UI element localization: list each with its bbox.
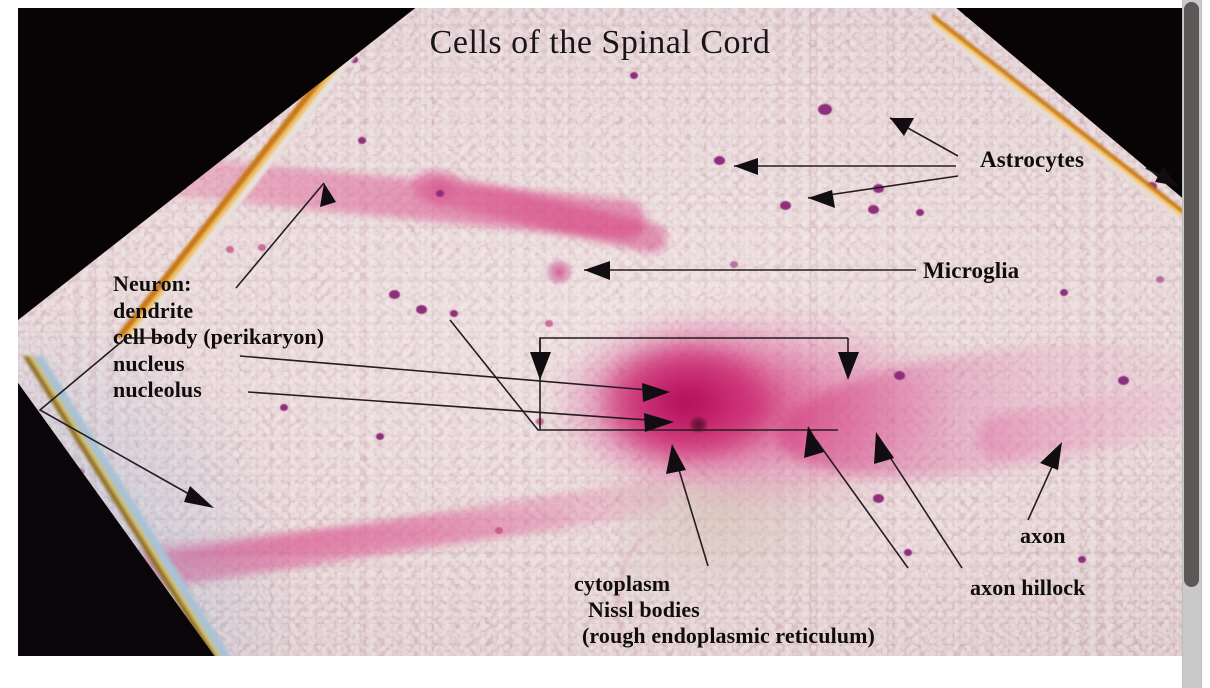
- astrocyte-nucleus: [873, 494, 884, 503]
- astrocyte-nucleus: [964, 10, 972, 17]
- astrocyte-nucleus: [630, 72, 638, 79]
- astrocyte-nucleus: [160, 638, 168, 645]
- micrograph-figure: Cells of the Spinal Cord Astrocytes Micr…: [18, 8, 1182, 656]
- astrocyte-nucleus: [226, 246, 234, 253]
- astrocyte-nucleus: [868, 205, 879, 214]
- astrocyte-nucleus: [1060, 289, 1068, 296]
- label-neuron-block: Neuron: dendrite cell body (perikaryon) …: [113, 271, 324, 404]
- astrocyte-nucleus: [436, 190, 444, 197]
- label-nissl-block: cytoplasm Nissl bodies (rough endoplasmi…: [574, 571, 875, 649]
- astrocyte-nucleus: [495, 527, 503, 534]
- astrocyte-nucleus: [780, 201, 791, 210]
- label-neuron-nucleus: nucleus: [113, 351, 324, 378]
- astrocyte-nucleus: [1118, 376, 1129, 385]
- label-nissl-bodies: Nissl bodies: [574, 597, 875, 623]
- label-neuron-dendrite: dendrite: [113, 298, 324, 325]
- astrocyte-nucleus: [389, 290, 400, 299]
- neuron-nucleolus: [690, 417, 707, 432]
- astrocyte-nucleus: [536, 418, 544, 425]
- astrocyte-nucleus: [376, 433, 384, 440]
- microglia-cell: [546, 260, 572, 284]
- astrocyte-nucleus: [904, 549, 912, 556]
- astrocyte-nucleus: [894, 371, 905, 380]
- astrocyte-nucleus: [1146, 182, 1157, 191]
- astrocyte-nucleus: [730, 261, 738, 268]
- astrocyte-nucleus: [1156, 276, 1164, 283]
- label-microglia: Microglia: [923, 258, 1019, 284]
- label-neuron-heading: Neuron:: [113, 271, 324, 298]
- astrocyte-nucleus: [545, 320, 553, 327]
- astrocyte-nucleus: [195, 79, 203, 86]
- astrocyte-nucleus: [258, 244, 266, 251]
- label-axon-hillock: axon hillock: [970, 575, 1086, 601]
- astrocyte-nucleus: [714, 156, 725, 165]
- astrocyte-nucleus: [358, 137, 366, 144]
- astrocyte-nucleus: [818, 104, 832, 115]
- vertical-scrollbar-thumb[interactable]: [1184, 2, 1199, 587]
- label-nissl-expansion: (rough endoplasmic reticulum): [574, 623, 875, 649]
- page-canvas: Cells of the Spinal Cord Astrocytes Micr…: [0, 0, 1210, 688]
- astrocyte-nucleus: [873, 184, 884, 193]
- label-axon: axon: [1020, 523, 1066, 549]
- label-neuron-nucleolus: nucleolus: [113, 377, 324, 404]
- astrocyte-nucleus: [1028, 13, 1036, 20]
- label-astrocytes: Astrocytes: [980, 147, 1084, 173]
- neuron-nucleus: [603, 338, 783, 468]
- dendrite-branch-point: [418, 168, 462, 208]
- astrocyte-nucleus: [416, 305, 427, 314]
- figure-title: Cells of the Spinal Cord: [18, 24, 1182, 62]
- astrocyte-nucleus: [280, 404, 288, 411]
- label-neuron-cell-body: cell body (perikaryon): [113, 324, 324, 351]
- astrocyte-nucleus: [450, 310, 458, 317]
- astrocyte-nucleus: [916, 209, 924, 216]
- astrocyte-nucleus: [77, 468, 85, 475]
- astrocyte-nucleus: [1078, 556, 1086, 563]
- label-cytoplasm: cytoplasm: [574, 571, 875, 597]
